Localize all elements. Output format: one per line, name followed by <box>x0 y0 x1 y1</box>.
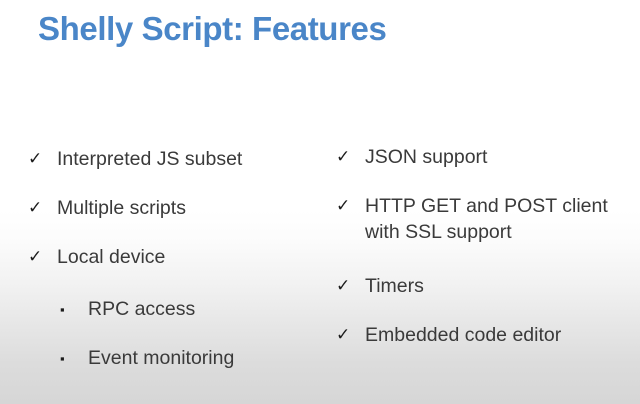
feature-item-label: Embedded code editor <box>365 322 561 348</box>
check-icon: ✓ <box>336 193 356 219</box>
feature-item-label: Multiple scripts <box>57 195 186 221</box>
feature-item-label: Timers <box>365 273 424 299</box>
check-icon: ✓ <box>336 273 356 299</box>
square-bullet-icon: ▪ <box>60 296 78 323</box>
feature-list-right: ✓ JSON support ✓ HTTP GET and POST clien… <box>330 144 630 371</box>
check-icon: ✓ <box>28 146 48 172</box>
feature-list-left: ✓ Interpreted JS subset ✓ Multiple scrip… <box>22 144 322 394</box>
feature-subitem-label: RPC access <box>88 296 195 322</box>
feature-item-multiple-scripts: ✓ Multiple scripts <box>22 195 322 221</box>
feature-item-embedded-code-editor: ✓ Embedded code editor <box>330 322 630 348</box>
feature-subitem-label: Event monitoring <box>88 345 234 371</box>
feature-item-json-support: ✓ JSON support <box>330 144 630 170</box>
feature-item-label: Local device <box>57 244 165 270</box>
square-bullet-icon: ▪ <box>60 345 78 372</box>
feature-subitem-event-monitoring: ▪ Event monitoring <box>22 345 322 371</box>
check-icon: ✓ <box>336 322 356 348</box>
check-icon: ✓ <box>28 244 48 270</box>
check-icon: ✓ <box>28 195 48 221</box>
feature-item-label: JSON support <box>365 144 487 170</box>
presentation-slide: Shelly Script: Features ✓ Interpreted JS… <box>0 0 640 404</box>
feature-item-label: HTTP GET and POST client with SSL suppor… <box>365 193 608 245</box>
feature-item-interpreted-js-subset: ✓ Interpreted JS subset <box>22 146 322 172</box>
feature-item-label: Interpreted JS subset <box>57 146 242 172</box>
feature-item-local-device: ✓ Local device <box>22 244 322 270</box>
feature-item-timers: ✓ Timers <box>330 273 630 299</box>
feature-item-http-get-post-client: ✓ HTTP GET and POST client with SSL supp… <box>330 193 630 245</box>
slide-title: Shelly Script: Features <box>38 8 386 50</box>
check-icon: ✓ <box>336 144 356 170</box>
feature-subitem-rpc-access: ▪ RPC access <box>22 296 322 322</box>
